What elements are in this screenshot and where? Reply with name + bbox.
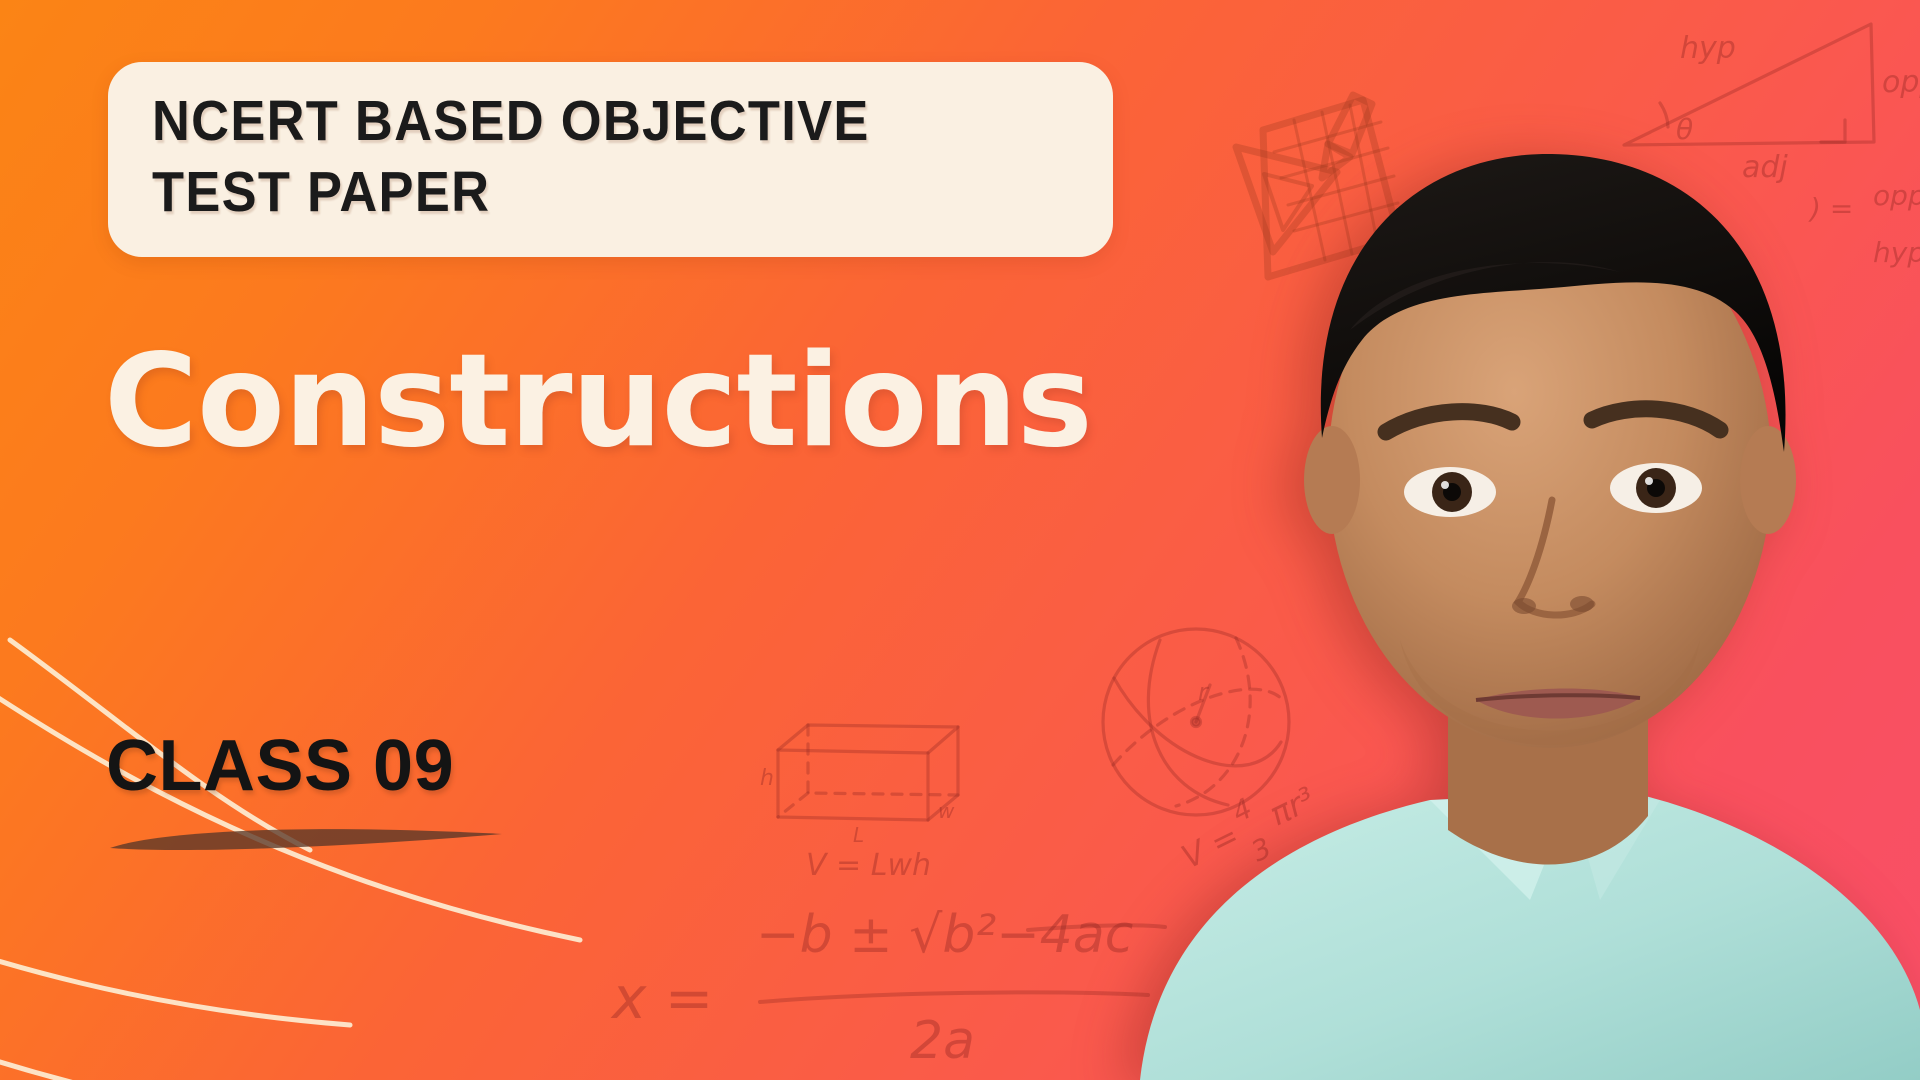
ear-left: [1304, 426, 1360, 534]
badge-line-1: NCERT BASED OBJECTIVE: [152, 86, 996, 157]
cuboid-doodle: [778, 725, 958, 820]
presenter-photo: [1100, 0, 1920, 1080]
badge-line-2: TEST PAPER: [152, 157, 996, 228]
eye-left: [1404, 467, 1496, 517]
course-type-badge: NCERT BASED OBJECTIVE TEST PAPER: [108, 62, 1113, 257]
ear-right: [1740, 426, 1796, 534]
class-label-group: CLASS 09: [106, 730, 454, 802]
eye-right: [1610, 463, 1702, 513]
cuboid-w-label: w: [938, 799, 955, 823]
page-title: Constructions: [104, 338, 1092, 466]
quadratic-numerator: −b ± √b²−4ac: [756, 905, 1133, 965]
class-label: CLASS 09: [106, 730, 454, 802]
quadratic-lhs: x =: [610, 964, 713, 1032]
cuboid-formula: V = Lwh: [806, 848, 931, 883]
cuboid-l-label: L: [853, 823, 864, 847]
quadratic-denominator: 2a: [910, 1011, 975, 1071]
thumbnail-canvas: hyp opp adj θ ) = opp hyp h L w V = Lwh …: [0, 0, 1920, 1080]
cuboid-h-label: h: [760, 766, 774, 791]
brushstroke-underline: [102, 822, 522, 856]
